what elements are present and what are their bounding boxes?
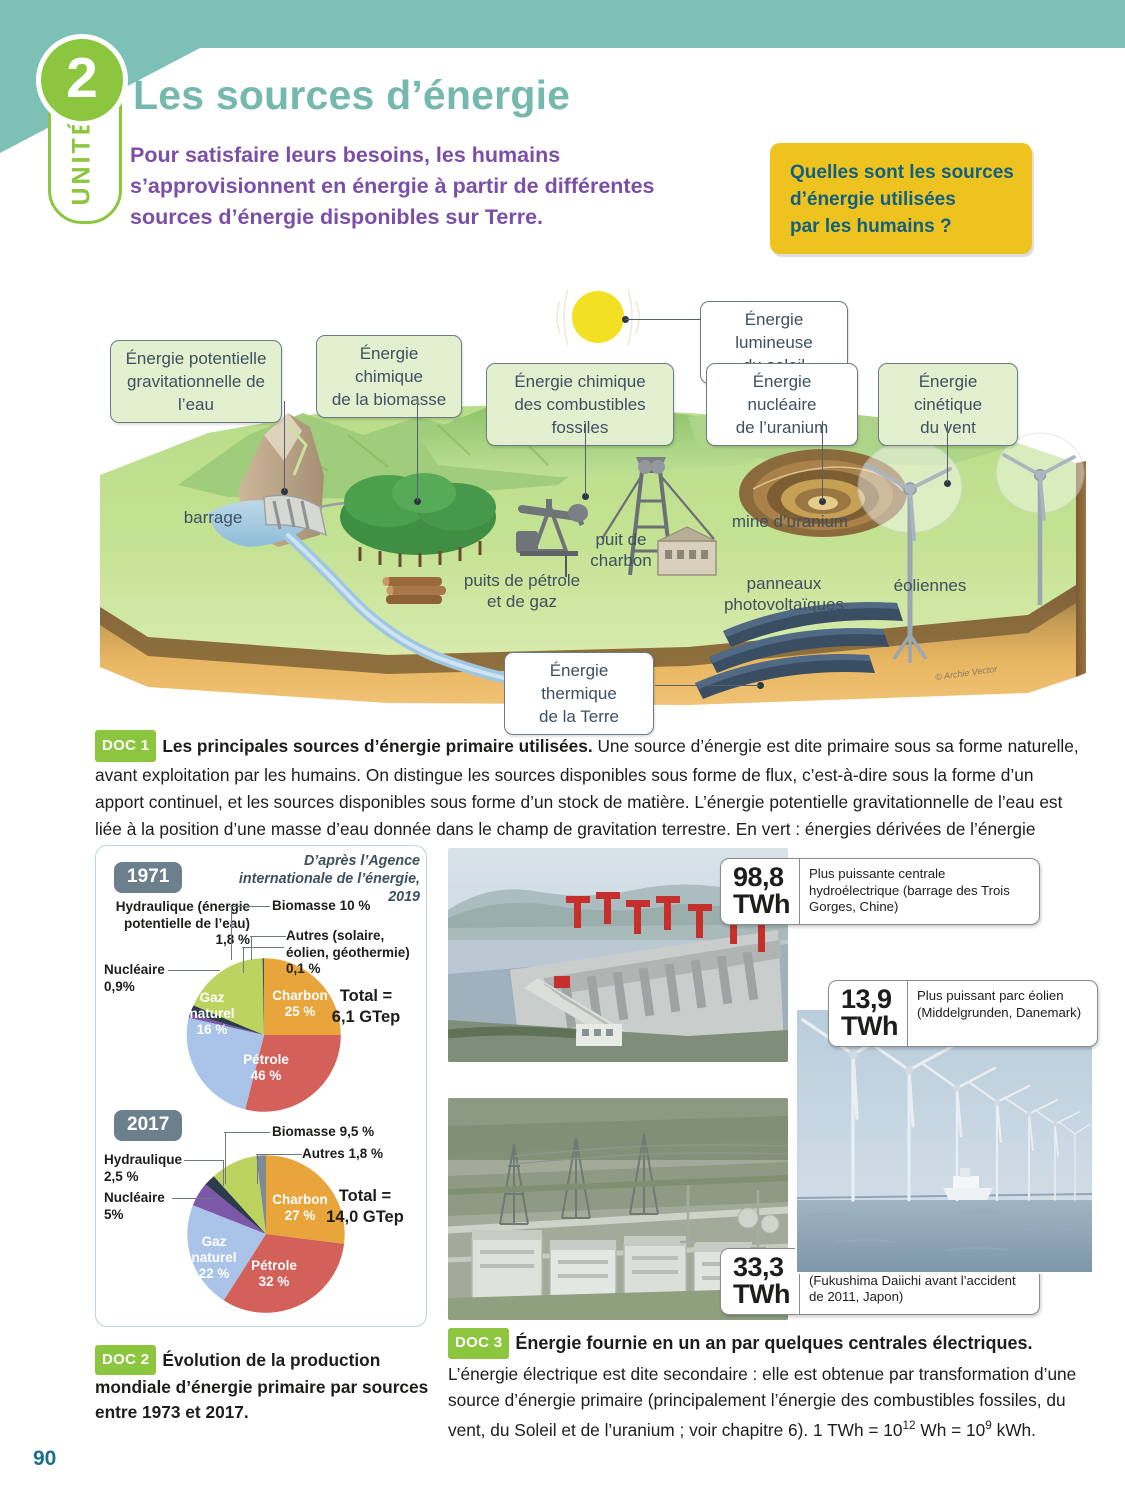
badge-number: 98,8 <box>733 864 790 891</box>
scene-label-line: éoliennes <box>878 575 982 596</box>
callout-line: Énergie thermique <box>516 659 642 705</box>
slice-name: Biomasse <box>272 898 336 913</box>
leader-autres-v-2017 <box>257 1154 258 1184</box>
question-line-2: d’énergie utilisées <box>790 186 1014 213</box>
badge-unit: TWh <box>733 891 790 918</box>
photo-middelgrunden-windfarm <box>795 1008 1094 1274</box>
scene-label-line: puit de <box>582 529 660 550</box>
slice-value: 0,9% <box>104 979 184 996</box>
total-value: 6,1 GTep <box>316 1007 416 1028</box>
doc3-tag: DOC 3 <box>448 1328 509 1359</box>
callout-line: Énergie potentielle <box>122 347 270 370</box>
callout-line: Énergie nucléaire <box>718 370 846 416</box>
scene-label-line: mine d’uranium <box>706 511 874 532</box>
chart-year-badge-1971: 1971 <box>114 862 182 893</box>
doc2-caption: DOC 2Évolution de la production mondiale… <box>95 1345 435 1425</box>
total-label: Total = <box>312 1186 418 1207</box>
leader-line-thermique <box>655 685 760 686</box>
slice-value: 9,5 % <box>340 1124 375 1139</box>
slice-name: Pétrole <box>240 1258 308 1274</box>
pie-total-1971: Total = 6,1 GTep <box>316 986 416 1028</box>
pie-inner-label-gaz-1971: Gaz naturel 16 % <box>186 990 238 1038</box>
unit-label-text: UNITÉ <box>68 115 97 205</box>
callout-line: de l’uranium <box>718 416 846 439</box>
leader-biomasse-2017 <box>224 1132 270 1133</box>
page-number: 90 <box>33 1447 56 1471</box>
middelgrunden-windfarm-image <box>797 1010 1092 1272</box>
callout-chimique-biomasse: Énergie chimique de la biomasse <box>316 335 462 418</box>
callout-thermique-terre: Énergie thermique de la Terre <box>504 652 654 735</box>
slice-name: Biomasse <box>272 1124 336 1139</box>
scene-label-puits-petrole: puits de pétrole et de gaz <box>456 570 588 612</box>
doc1-caption-title: Les principales sources d’énergie primai… <box>162 736 592 756</box>
slice-value: 10 % <box>340 898 371 913</box>
total-label: Total = <box>316 986 416 1007</box>
slice-name: Gaz naturel <box>186 1234 242 1266</box>
slice-name: Gaz naturel <box>186 990 238 1022</box>
pie-outer-label-hydraulique-1971: Hydraulique (énergie potentielle de l’ea… <box>104 899 250 949</box>
leader-hydraulique-1971 <box>242 947 284 948</box>
leader-hydraulique-v-1971 <box>243 947 244 973</box>
guiding-question-box: Quelles sont les sources d’énergie utili… <box>770 143 1032 254</box>
slice-name: Autres <box>302 1146 345 1161</box>
slice-name: Pétrole <box>232 1052 300 1068</box>
doc3-body-part3: kWh. <box>992 1420 1036 1440</box>
leader-nucleaire-2017 <box>172 1198 214 1199</box>
badge-desc-hydro: Plus puissante centrale hydroélectrique … <box>800 859 1039 924</box>
question-line-3: par les humains ? <box>790 213 1014 240</box>
callout-nucleaire-uranium: Énergie nucléaire de l’uranium <box>706 363 858 446</box>
callout-line: gravitationnelle de l’eau <box>122 370 270 416</box>
doc3-body-part2: Wh = 10 <box>916 1420 986 1440</box>
leader-autres-2017 <box>256 1154 302 1155</box>
scene-label-barrage: barrage <box>176 507 250 528</box>
badge-number: 33,3 <box>733 1254 790 1281</box>
leader-autres-v-1971 <box>251 936 252 960</box>
scene-label-line: charbon <box>582 550 660 571</box>
badge-value-nucleaire: 33,3 TWh <box>721 1249 800 1314</box>
unit-number-circle: 2 <box>36 34 128 126</box>
callout-chimique-fossiles: Énergie chimique des combustibles fossil… <box>486 363 674 446</box>
scene-label-line: panneaux <box>700 573 868 594</box>
pie-inner-label-petrole-2017: Pétrole 32 % <box>240 1258 308 1290</box>
leader-hydraulique-v-2017 <box>223 1160 224 1186</box>
callout-line: de la Terre <box>516 705 642 728</box>
doc3-caption-body: L’énergie électrique est dite secondaire… <box>448 1361 1088 1443</box>
slice-value: 32 % <box>240 1274 308 1290</box>
doc3-caption: DOC 3Énergie fournie en un an par quelqu… <box>448 1328 1088 1443</box>
pie-inner-label-gaz-2017: Gaz naturel 22 % <box>186 1234 242 1282</box>
pie-outer-label-nucleaire-2017: Nucléaire 5% <box>104 1190 184 1223</box>
scene-label-line: puits de pétrole <box>456 570 588 591</box>
page-title: Les sources d’énergie <box>133 72 570 119</box>
callout-line: Énergie chimique <box>328 342 450 388</box>
callout-line: Énergie chimique <box>498 370 662 393</box>
callout-line: des combustibles fossiles <box>498 393 662 439</box>
total-value: 14,0 GTep <box>312 1207 418 1228</box>
pie-outer-label-autres-2017: Autres 1,8 % <box>302 1146 412 1163</box>
doc3-caption-heading: DOC 3Énergie fournie en un an par quelqu… <box>448 1328 1088 1359</box>
doc1-tag: DOC 1 <box>95 730 156 762</box>
badge-value-hydro: 98,8 TWh <box>721 859 800 924</box>
slice-value: 1,8 % <box>215 932 250 947</box>
callout-line: Énergie cinétique <box>890 370 1006 416</box>
intro-paragraph: Pour satisfaire leurs besoins, les humai… <box>130 140 740 233</box>
leader-biomasse-1971 <box>230 906 270 907</box>
leader-line-vent <box>947 421 948 483</box>
slice-value: 2,5 % <box>104 1169 188 1186</box>
unit-number-text: 2 <box>66 50 98 107</box>
slice-value: 0,1 % <box>286 961 321 976</box>
question-line-1: Quelles sont les sources <box>790 159 1014 186</box>
scene-label-line: et de gaz <box>456 591 588 612</box>
scene-label-puit-charbon: puit de charbon <box>582 529 660 571</box>
top-banner <box>0 0 1125 48</box>
slice-value: 22 % <box>186 1266 242 1282</box>
leader-biomasse-v-2017 <box>225 1132 226 1184</box>
badge-eolien: 13,9 TWh Plus puissant parc éolien (Midd… <box>828 980 1098 1047</box>
slice-value: 1,8 % <box>349 1146 384 1161</box>
callout-potentielle-eau: Énergie potentielle gravitationnelle de … <box>110 340 282 423</box>
leader-biomasse-v-1971 <box>231 906 232 960</box>
callout-line: Énergie lumineuse <box>712 308 836 354</box>
leader-line-biomasse <box>417 396 418 501</box>
scene-label-line: photovoltaïques <box>700 594 868 615</box>
scene-label-eoliennes: éoliennes <box>878 575 982 596</box>
doc2-tag: DOC 2 <box>95 1345 156 1375</box>
pie-total-2017: Total = 14,0 GTep <box>312 1186 418 1228</box>
pie-outer-label-biomasse-2017: Biomasse 9,5 % <box>272 1124 404 1141</box>
chart-year-badge-2017: 2017 <box>114 1110 182 1141</box>
slice-value: 16 % <box>186 1022 238 1038</box>
slice-value: 5% <box>104 1207 184 1224</box>
pie-outer-label-autres-1971: Autres (solaire, éolien, géothermie) 0,1… <box>286 928 414 978</box>
slice-name: Hydraulique <box>104 1152 188 1169</box>
pie-inner-label-petrole-1971: Pétrole 46 % <box>232 1052 300 1084</box>
leader-nucleaire-1971 <box>168 970 220 971</box>
leader-line-soleil <box>625 319 701 320</box>
doc3-caption-title: Énergie fournie en un an par quelques ce… <box>515 1333 1032 1353</box>
badge-value-eolien: 13,9 TWh <box>829 981 908 1046</box>
scene-label-line: barrage <box>176 507 250 528</box>
badge-number: 13,9 <box>841 986 898 1013</box>
badge-unit: TWh <box>733 1281 790 1308</box>
leader-line-fossiles <box>585 423 586 495</box>
slice-name: Autres (solaire, éolien, géothermie) <box>286 928 410 960</box>
badge-hydro: 98,8 TWh Plus puissante centrale hydroél… <box>720 858 1040 925</box>
pie-outer-label-biomasse-1971: Biomasse 10 % <box>272 898 402 915</box>
leader-line-potentielle-eau <box>284 401 285 491</box>
callout-line: de la biomasse <box>328 388 450 411</box>
doc1-illustration: Énergie potentielle gravitationnelle de … <box>88 285 1088 715</box>
badge-unit: TWh <box>841 1013 898 1040</box>
slice-value: 46 % <box>232 1068 300 1084</box>
badge-desc-eolien: Plus puissant parc éolien (Middelgrunden… <box>908 981 1097 1046</box>
scene-label-mine-uranium: mine d’uranium <box>706 511 874 532</box>
scene-label-panneaux-pv: panneaux photovoltaïques <box>700 573 868 615</box>
doc3-exponent-1: 12 <box>903 1419 916 1432</box>
leader-hydraulique-2017 <box>184 1160 224 1161</box>
pie-outer-label-hydraulique-2017: Hydraulique 2,5 % <box>104 1152 188 1185</box>
leader-line-uranium <box>822 421 823 501</box>
leader-autres-1971 <box>250 936 286 937</box>
pie-outer-label-nucleaire-1971: Nucléaire 0,9% <box>104 962 184 995</box>
slice-name: Hydraulique (énergie potentielle de l’ea… <box>116 899 250 931</box>
